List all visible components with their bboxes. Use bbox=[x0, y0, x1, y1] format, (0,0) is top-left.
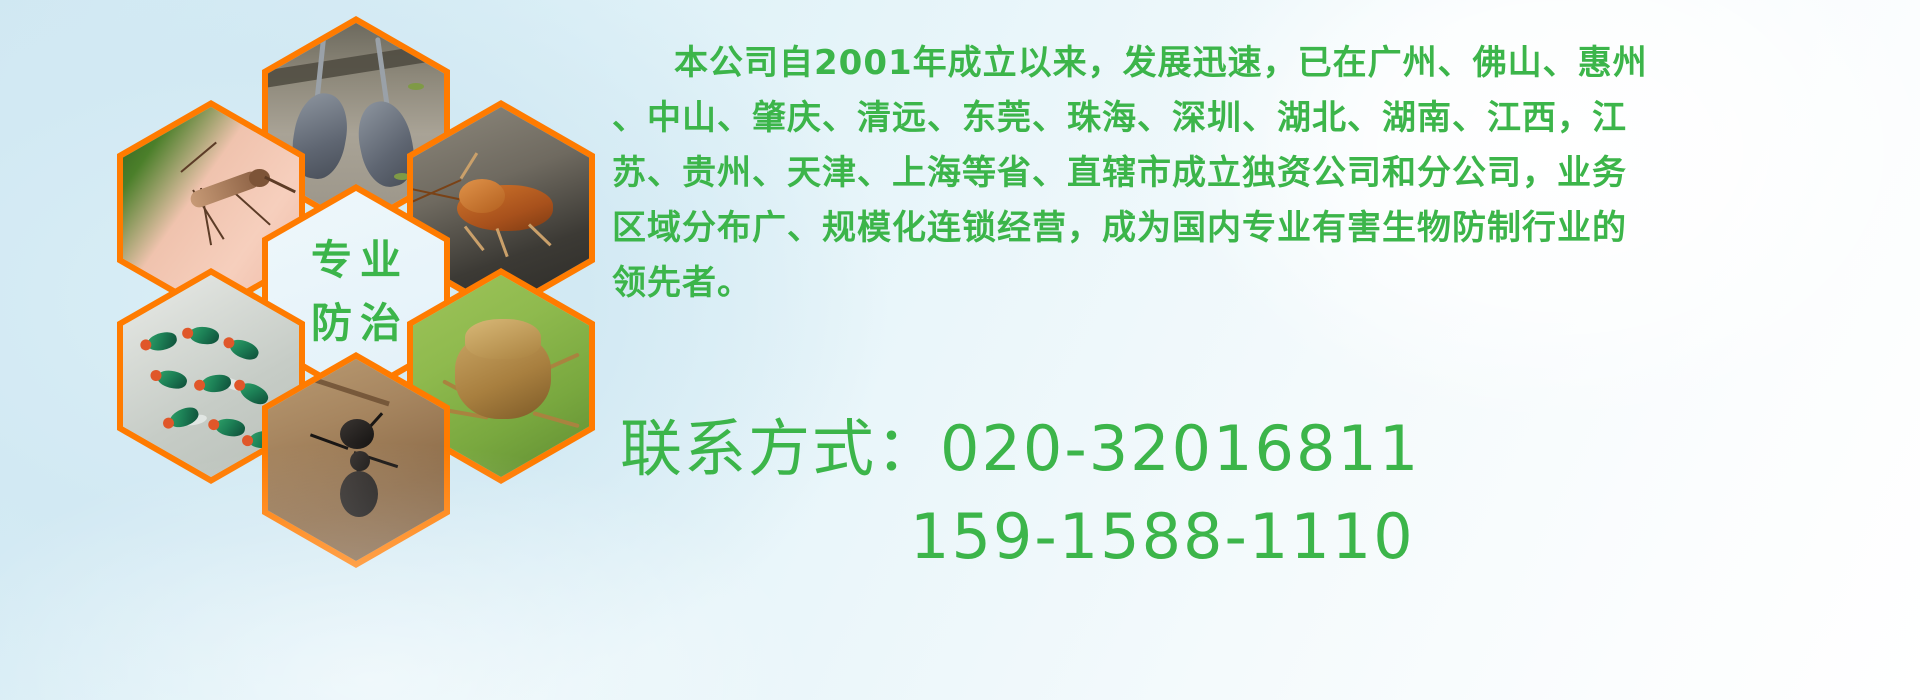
intro-line-1: 本公司自2001年成立以来，发展迅速，已在广州、佛山、惠州 bbox=[612, 36, 1912, 91]
ant-photo bbox=[268, 359, 444, 561]
center-word-line2: 防治 bbox=[303, 303, 409, 344]
center-word-line1: 专业 bbox=[303, 240, 409, 281]
phone-primary[interactable]: 020-32016811 bbox=[940, 412, 1420, 485]
company-intro-paragraph: 本公司自2001年成立以来，发展迅速，已在广州、佛山、惠州 、中山、肇庆、清远、… bbox=[612, 36, 1912, 311]
contact-block: 联系方式：020-32016811 159-1588-1110 bbox=[620, 405, 1920, 581]
promo-banner: 专业 防治 bbox=[0, 0, 1920, 700]
intro-line-4: 区域分布广、规模化连锁经营，成为国内专业有害生物防制行业的 bbox=[612, 201, 1912, 256]
contact-label: 联系方式： bbox=[620, 412, 940, 485]
contact-primary-line: 联系方式：020-32016811 bbox=[620, 405, 1920, 493]
hexagon-collage: 专业 防治 bbox=[90, 8, 610, 553]
intro-line-3: 苏、贵州、天津、上海等省、直辖市成立独资公司和分公司，业务 bbox=[612, 146, 1912, 201]
phone-secondary[interactable]: 159-1588-1110 bbox=[620, 493, 1920, 581]
intro-line-2: 、中山、肇庆、清远、东莞、珠海、深圳、湖北、湖南、江西，江 bbox=[612, 91, 1912, 146]
intro-line-5: 领先者。 bbox=[612, 256, 1912, 311]
